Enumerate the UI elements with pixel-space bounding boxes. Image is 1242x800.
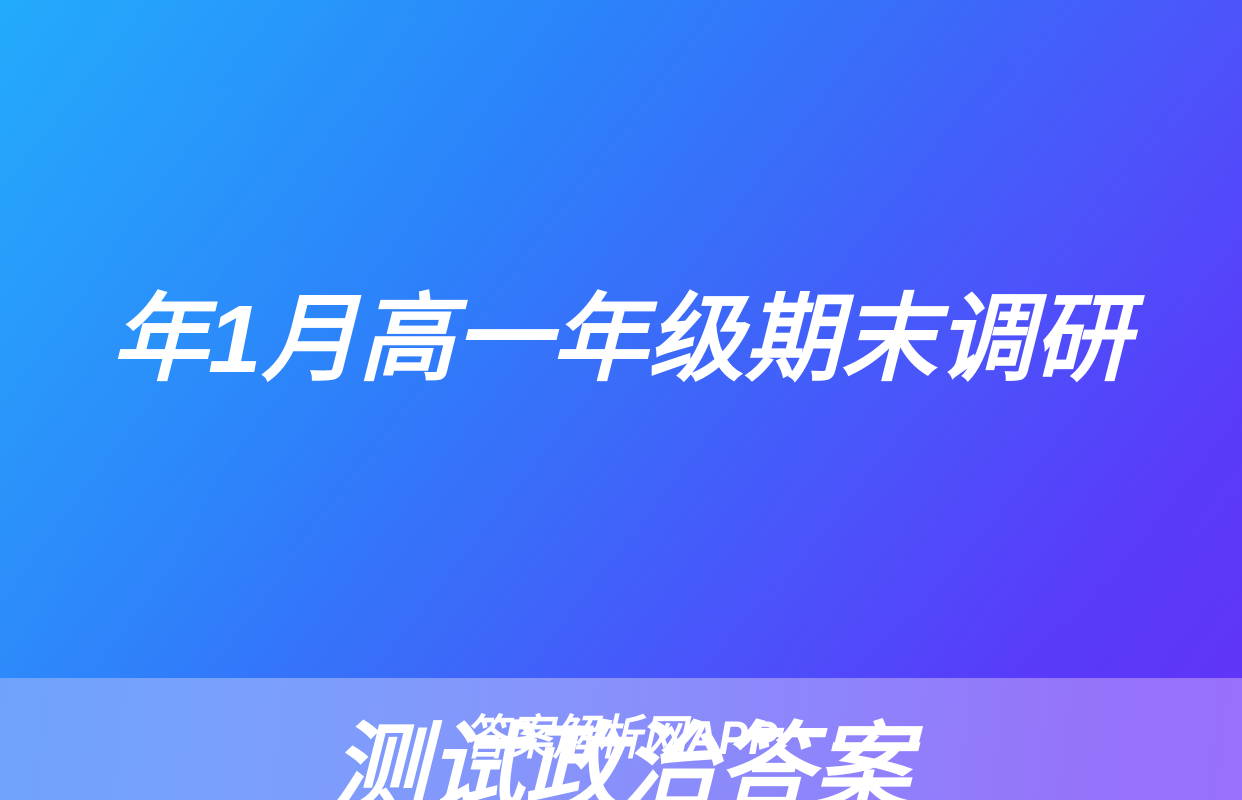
share-card: 天一大联考 山西省2024 年1月高一年级期末调研 测试政治答案 答案解析网AP…	[0, 0, 1242, 800]
page-title: 天一大联考 山西省2024 年1月高一年级期末调研 测试政治答案	[61, 0, 1181, 800]
page-title-line-2: 年1月高一年级期末调研	[61, 268, 1181, 411]
hero-gradient-panel: 天一大联考 山西省2024 年1月高一年级期末调研 测试政治答案	[0, 0, 1242, 678]
page-title-line-3: 测试政治答案	[61, 697, 1181, 800]
